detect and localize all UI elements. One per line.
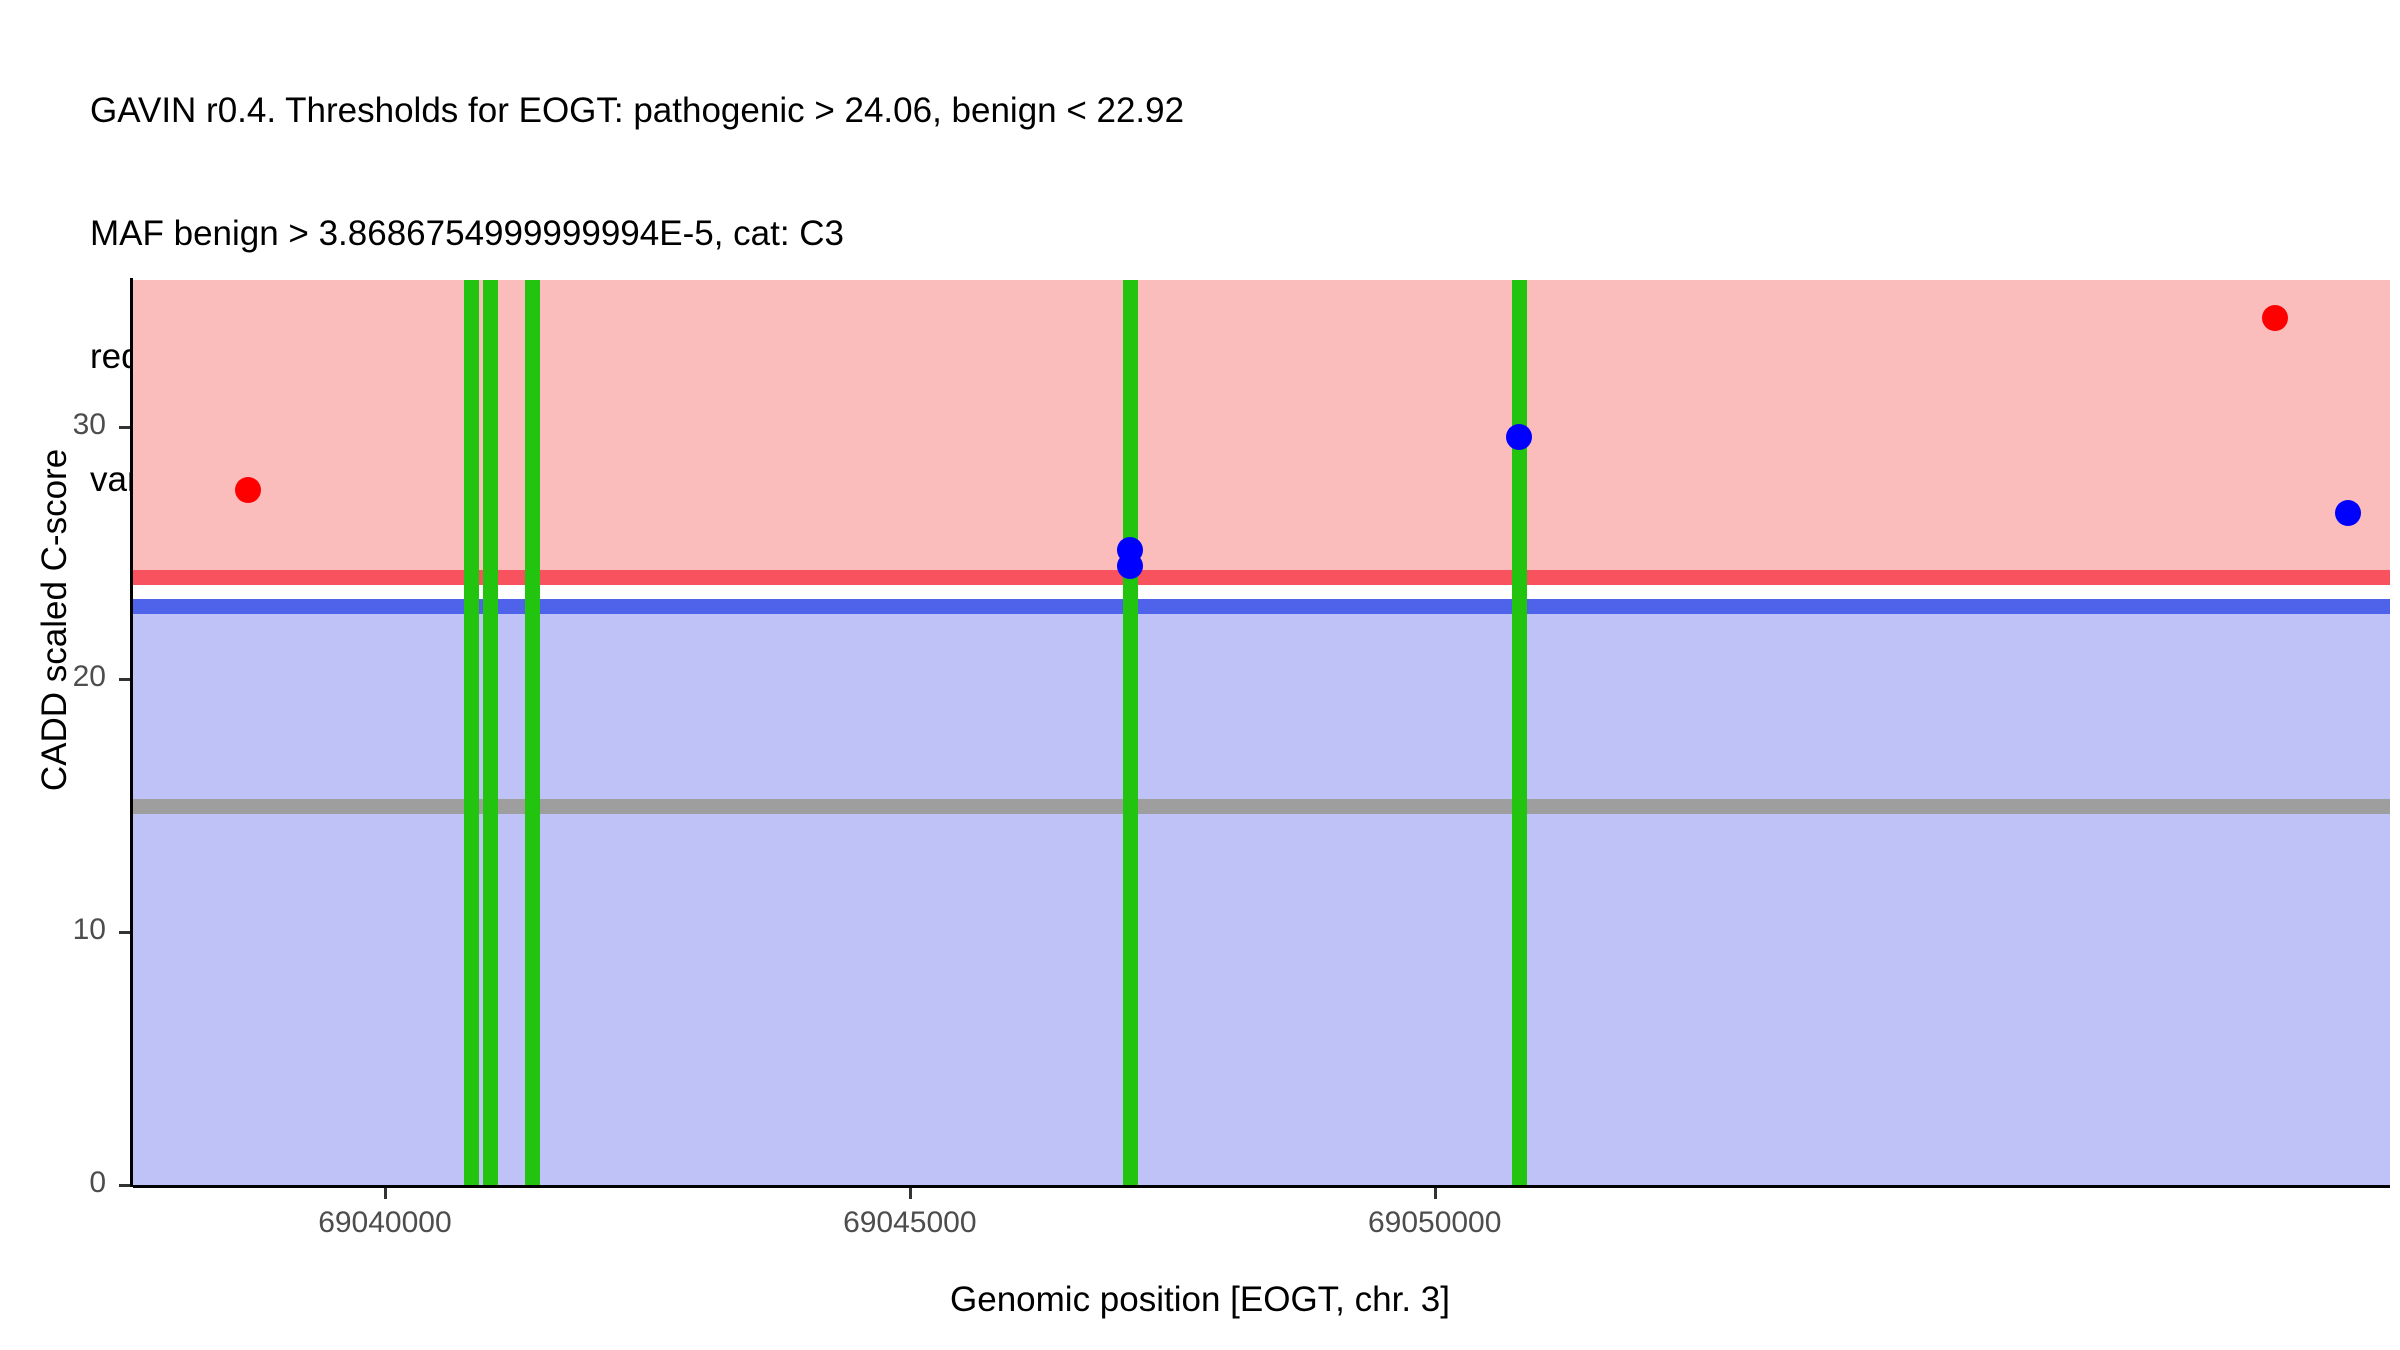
x-tick-label-69050000: 69050000 [1285,1206,1585,1240]
y-tick-mark-10 [119,931,130,934]
x-tick-label-69040000: 69040000 [235,1206,535,1240]
x-tick-mark-69040000 [384,1188,387,1199]
exon-line-4 [1123,280,1138,1185]
x-tick-mark-69050000 [1434,1188,1437,1199]
title-line-1: GAVIN r0.4. Thresholds for EOGT: pathoge… [90,90,2350,131]
gnomad-variant-point-3 [1506,424,1532,450]
exon-line-5 [1512,280,1527,1185]
x-axis-line [133,1185,2390,1188]
chart-root: GAVIN r0.4. Thresholds for EOGT: pathoge… [0,0,2400,1350]
y-tick-label-0: 0 [0,1166,118,1200]
y-tick-mark-30 [119,426,130,429]
gnomad-variant-point-2 [1117,553,1143,579]
clinvar-pathogenic-point-2 [2262,305,2288,331]
x-tick-label-69045000: 69045000 [760,1206,1060,1240]
exon-line-2 [483,280,498,1185]
title-line-2: MAF benign > 3.8686754999999994E-5, cat:… [90,213,2350,254]
gnomad-variant-point-4 [2335,500,2361,526]
exon-line-3 [525,280,540,1185]
x-axis-title: Genomic position [EOGT, chr. 3] [0,1280,2400,1320]
plot-panel [133,280,2390,1185]
x-tick-mark-69045000 [909,1188,912,1199]
y-axis-title: CADD scaled C-score [35,270,75,970]
exon-line-1 [464,280,479,1185]
y-axis-line [130,278,133,1187]
y-tick-mark-20 [119,678,130,681]
y-tick-mark-0 [119,1184,130,1187]
